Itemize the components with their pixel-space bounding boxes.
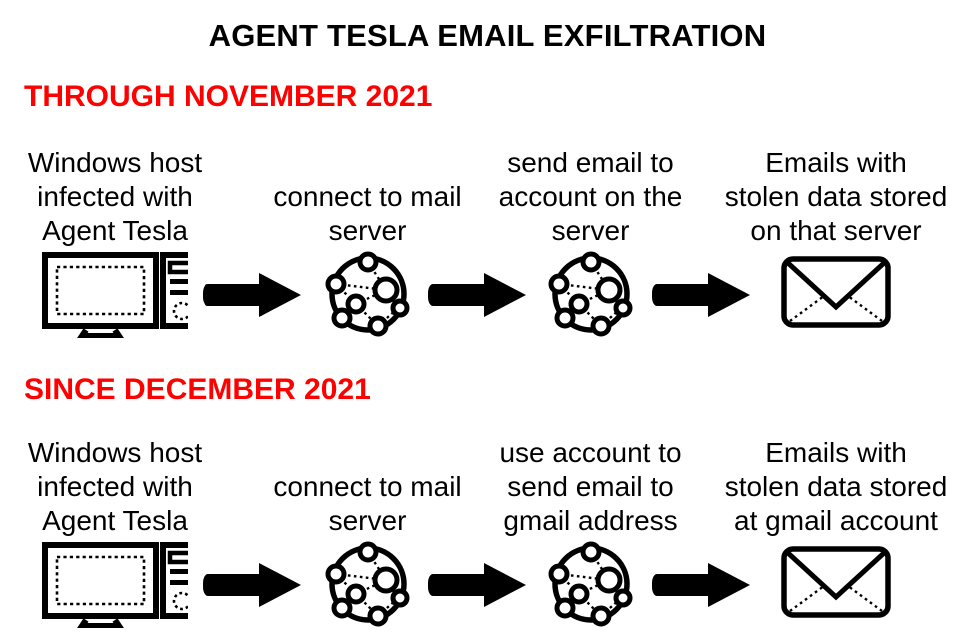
envelope-icon	[705, 540, 967, 630]
flow-step-caption: use account to send email to gmail addre…	[468, 436, 713, 538]
caption-line: Emails with	[705, 436, 967, 470]
envelope-icon	[705, 250, 967, 340]
flow-step-caption: send email to account on the server	[468, 146, 713, 248]
flow-step-caption: Emails with stolen data stored on that s…	[705, 146, 967, 248]
caption-line: on that server	[705, 214, 967, 248]
caption-line: stolen data stored	[705, 470, 967, 504]
flow-step-caption: Windows host infected with Agent Tesla	[0, 146, 230, 248]
caption-line: Agent Tesla	[0, 214, 230, 248]
caption-line: Emails with	[705, 146, 967, 180]
flow-step-windows-host: Windows host infected with Agent Tesla	[0, 140, 230, 340]
caption-line: send email to	[468, 146, 713, 180]
flow-step-caption: Windows host infected with Agent Tesla	[0, 436, 230, 538]
desktop-computer-icon	[0, 540, 230, 630]
caption-line: connect to mail	[245, 180, 490, 214]
caption-line: server	[468, 214, 713, 248]
caption-line: at gmail account	[705, 504, 967, 538]
caption-line: gmail address	[468, 504, 713, 538]
section-heading-since-december-2021: SINCE DECEMBER 2021	[24, 375, 371, 405]
flow-step-windows-host: Windows host infected with Agent Tesla	[0, 430, 230, 630]
flow-step-caption: connect to mail server	[245, 470, 490, 538]
flow-step-emails-stored-at-gmail: Emails with stolen data stored at gmail …	[705, 430, 967, 630]
flow-diagram-row-1: Windows host infected with Agent Tesla	[0, 140, 975, 340]
caption-line: Agent Tesla	[0, 504, 230, 538]
flow-step-caption: connect to mail server	[245, 180, 490, 248]
caption-line: connect to mail	[245, 470, 490, 504]
caption-line: server	[245, 214, 490, 248]
caption-line: infected with	[0, 180, 230, 214]
caption-line: use account to	[468, 436, 713, 470]
flow-step-caption: Emails with stolen data stored at gmail …	[705, 436, 967, 538]
caption-line: Windows host	[0, 436, 230, 470]
desktop-computer-icon	[0, 250, 230, 340]
caption-line: infected with	[0, 470, 230, 504]
caption-line: stolen data stored	[705, 180, 967, 214]
caption-line: server	[245, 504, 490, 538]
caption-line: Windows host	[0, 146, 230, 180]
flow-step-emails-stored-on-server: Emails with stolen data stored on that s…	[705, 140, 967, 340]
caption-line: account on the	[468, 180, 713, 214]
caption-line: send email to	[468, 470, 713, 504]
section-heading-through-november-2021: THROUGH NOVEMBER 2021	[24, 82, 432, 112]
page-title: AGENT TESLA EMAIL EXFILTRATION	[0, 20, 975, 51]
flow-diagram-row-2: Windows host infected with Agent Tesla	[0, 430, 975, 630]
